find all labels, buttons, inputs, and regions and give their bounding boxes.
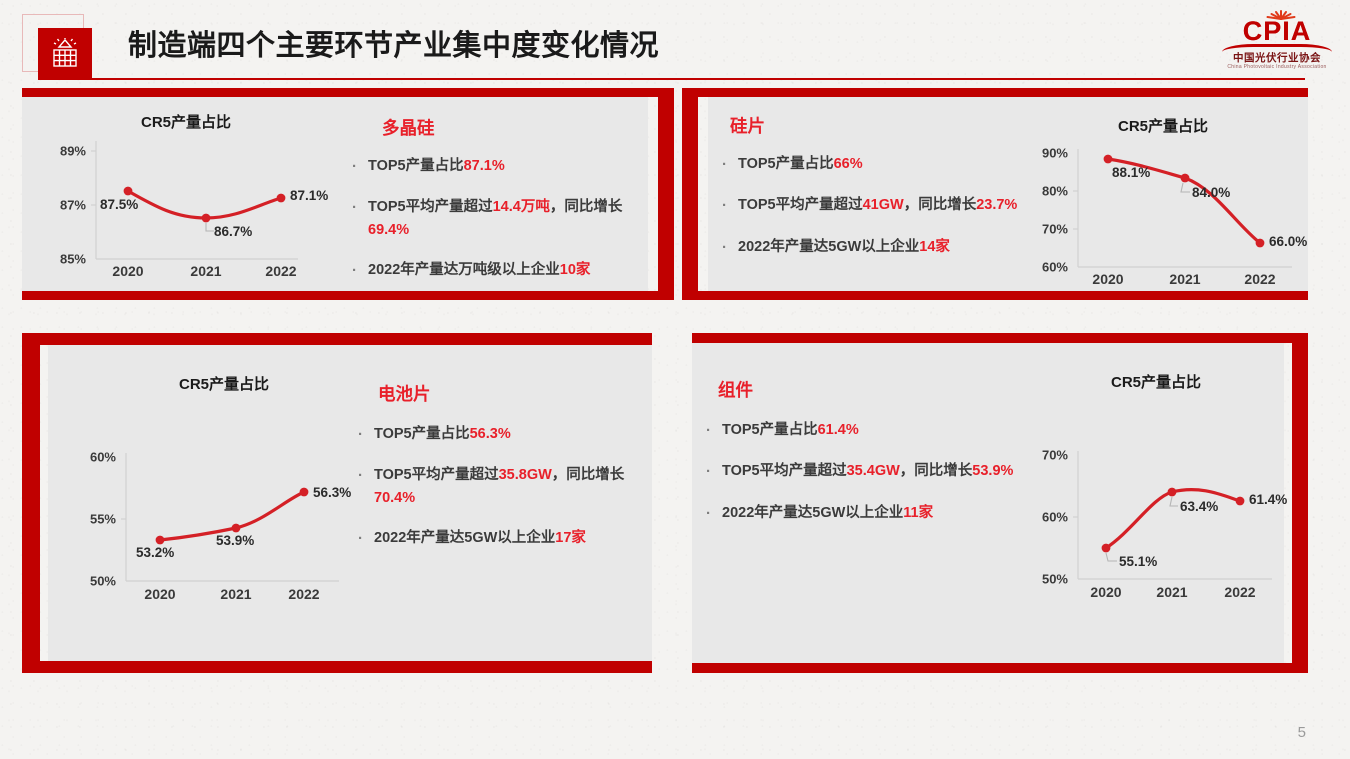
bullet-dot: · (706, 502, 722, 525)
chart-wafer: CR5产量占比 90% 80% 70% 60% 88.1% 84.0% 66.0… (1020, 115, 1306, 287)
list-item: ·TOP5产量占比61.4% (706, 419, 1016, 442)
panel-border-left (682, 88, 698, 300)
panel-polysilicon: CR5产量占比 89% 87% 85% 87.5% 86.7% 87.1% 20… (22, 88, 674, 300)
data-label: 87.5% (100, 197, 138, 212)
bullet-text: TOP5平均产量超过14.4万吨，同比增长69.4% (368, 196, 642, 241)
list-item: ·TOP5产量占比87.1% (352, 155, 642, 178)
panel-border-top (682, 88, 1308, 97)
data-label: 53.2% (136, 545, 174, 560)
x-axis-tick: 2021 (1156, 584, 1187, 600)
x-axis-tick: 2022 (265, 263, 296, 279)
panel-border-bottom (22, 661, 652, 673)
data-label: 53.9% (216, 533, 254, 548)
bullet-text: TOP5平均产量超过41GW，同比增长23.7% (738, 194, 1022, 216)
panel-border-right (658, 88, 674, 300)
bullet-text: TOP5产量占比56.3% (374, 423, 638, 445)
cpia-logo: CPIA 中国光伏行业协会 China Photovoltaic Industr… (1216, 4, 1338, 78)
data-label: 66.0% (1269, 234, 1307, 249)
solar-panel-icon (38, 28, 92, 80)
bullet-dot: · (706, 460, 722, 483)
data-label: 87.1% (290, 188, 328, 203)
list-item: ·2022年产量达5GW以上企业11家 (706, 502, 1016, 525)
data-label: 63.4% (1180, 499, 1218, 514)
page-title: 制造端四个主要环节产业集中度变化情况 (128, 22, 659, 64)
panel-body: 硅片 ·TOP5产量占比66% ·TOP5平均产量超过41GW，同比增长23.7… (708, 97, 1308, 291)
chart-polysilicon: CR5产量占比 89% 87% 85% 87.5% 86.7% 87.1% 20… (36, 111, 336, 276)
bullet-list: ·TOP5产量占比87.1% ·TOP5平均产量超过14.4万吨，同比增长69.… (352, 155, 642, 300)
chart-module: CR5产量占比 70% 60% 50% 55.1% 63.4% 61.4% 20… (1022, 371, 1290, 601)
slide-header: 制造端四个主要环节产业集中度变化情况 CPIA 中国光伏行业协会 China P… (0, 0, 1350, 86)
category-title: 组件 (718, 377, 753, 402)
bullet-text: TOP5产量占比66% (738, 153, 1022, 175)
panel-border-top (692, 333, 1308, 343)
cpia-english-name: China Photovoltaic Industry Association (1216, 64, 1338, 70)
data-label: 86.7% (214, 224, 252, 239)
bullet-dot: · (352, 259, 368, 282)
panel-border-top (22, 88, 674, 97)
x-axis-tick: 2021 (190, 263, 221, 279)
list-item: ·2022年产量达万吨级以上企业10家 (352, 259, 642, 282)
bullet-text: TOP5产量占比61.4% (722, 419, 1016, 441)
bullet-list: ·TOP5产量占比66% ·TOP5平均产量超过41GW，同比增长23.7% ·… (722, 153, 1022, 277)
bullet-dot: · (722, 236, 738, 259)
bullet-text: TOP5平均产量超过35.8GW，同比增长70.4% (374, 464, 638, 509)
bullet-text: TOP5产量占比87.1% (368, 155, 642, 177)
panel-body: CR5产量占比 60% 55% 50% 53.2% 53.9% 56.3% 20… (48, 345, 652, 661)
data-label: 56.3% (313, 485, 351, 500)
data-label: 84.0% (1192, 185, 1230, 200)
bullet-text: 2022年产量达万吨级以上企业10家 (368, 259, 642, 281)
chart-plot (1020, 115, 1306, 287)
title-underline (60, 78, 1305, 80)
bullet-dot: · (352, 196, 368, 219)
panel-border-bottom (682, 291, 1308, 300)
bullet-dot: · (358, 423, 374, 446)
bullet-list: ·TOP5产量占比61.4% ·TOP5平均产量超过35.4GW，同比增长53.… (706, 419, 1016, 543)
panel-cell: CR5产量占比 60% 55% 50% 53.2% 53.9% 56.3% 20… (22, 333, 652, 673)
category-title: 硅片 (730, 113, 765, 138)
panel-border-top (22, 333, 652, 345)
panel-border-bottom (692, 663, 1308, 673)
list-item: ·TOP5产量占比56.3% (358, 423, 638, 446)
panel-module: 组件 ·TOP5产量占比61.4% ·TOP5平均产量超过35.4GW，同比增长… (692, 333, 1308, 673)
cpia-acronym: CPIA (1224, 18, 1330, 45)
list-item: ·TOP5产量占比66% (722, 153, 1022, 176)
x-axis-tick: 2020 (1090, 584, 1121, 600)
list-item: ·2022年产量达5GW以上企业17家 (358, 527, 638, 550)
bullet-text: TOP5平均产量超过35.4GW，同比增长53.9% (722, 460, 1016, 482)
chart-cell: CR5产量占比 60% 55% 50% 53.2% 53.9% 56.3% 20… (64, 373, 384, 603)
bullet-dot: · (722, 153, 738, 176)
list-item: ·TOP5平均产量超过14.4万吨，同比增长69.4% (352, 196, 642, 241)
panel-wafer: 硅片 ·TOP5产量占比66% ·TOP5平均产量超过41GW，同比增长23.7… (682, 88, 1308, 300)
bullet-text: 2022年产量达5GW以上企业14家 (738, 236, 1022, 258)
page-number: 5 (1298, 724, 1306, 741)
bullet-dot: · (358, 464, 374, 487)
x-axis-tick: 2022 (288, 586, 319, 602)
bullet-text: 2022年产量达5GW以上企业11家 (722, 502, 1016, 524)
list-item: ·TOP5平均产量超过35.4GW，同比增长53.9% (706, 460, 1016, 483)
x-axis-tick: 2021 (220, 586, 251, 602)
x-axis-tick: 2021 (1169, 271, 1200, 287)
data-label: 55.1% (1119, 554, 1157, 569)
panel-body: CR5产量占比 89% 87% 85% 87.5% 86.7% 87.1% 20… (22, 97, 648, 291)
x-axis-tick: 2022 (1244, 271, 1275, 287)
panel-border-left (22, 333, 40, 673)
x-axis-tick: 2020 (144, 586, 175, 602)
bullet-dot: · (706, 419, 722, 442)
x-axis-tick: 2022 (1224, 584, 1255, 600)
data-label: 61.4% (1249, 492, 1287, 507)
bullet-list: ·TOP5产量占比56.3% ·TOP5平均产量超过35.8GW，同比增长70.… (358, 423, 638, 568)
cpia-chinese-name: 中国光伏行业协会 (1216, 50, 1338, 65)
x-axis-tick: 2020 (1092, 271, 1123, 287)
list-item: ·TOP5平均产量超过41GW，同比增长23.7% (722, 194, 1022, 217)
bullet-dot: · (352, 155, 368, 178)
category-title: 电池片 (378, 381, 431, 406)
data-label: 88.1% (1112, 165, 1150, 180)
category-title: 多晶硅 (382, 115, 435, 140)
bullet-text: 2022年产量达5GW以上企业17家 (374, 527, 638, 549)
panel-border-right (1292, 333, 1308, 673)
bullet-dot: · (722, 194, 738, 217)
x-axis-tick: 2020 (112, 263, 143, 279)
list-item: ·TOP5平均产量超过35.8GW，同比增长70.4% (358, 464, 638, 509)
bullet-dot: · (358, 527, 374, 550)
panel-body: 组件 ·TOP5产量占比61.4% ·TOP5平均产量超过35.4GW，同比增长… (692, 343, 1284, 663)
list-item: ·2022年产量达5GW以上企业14家 (722, 236, 1022, 259)
